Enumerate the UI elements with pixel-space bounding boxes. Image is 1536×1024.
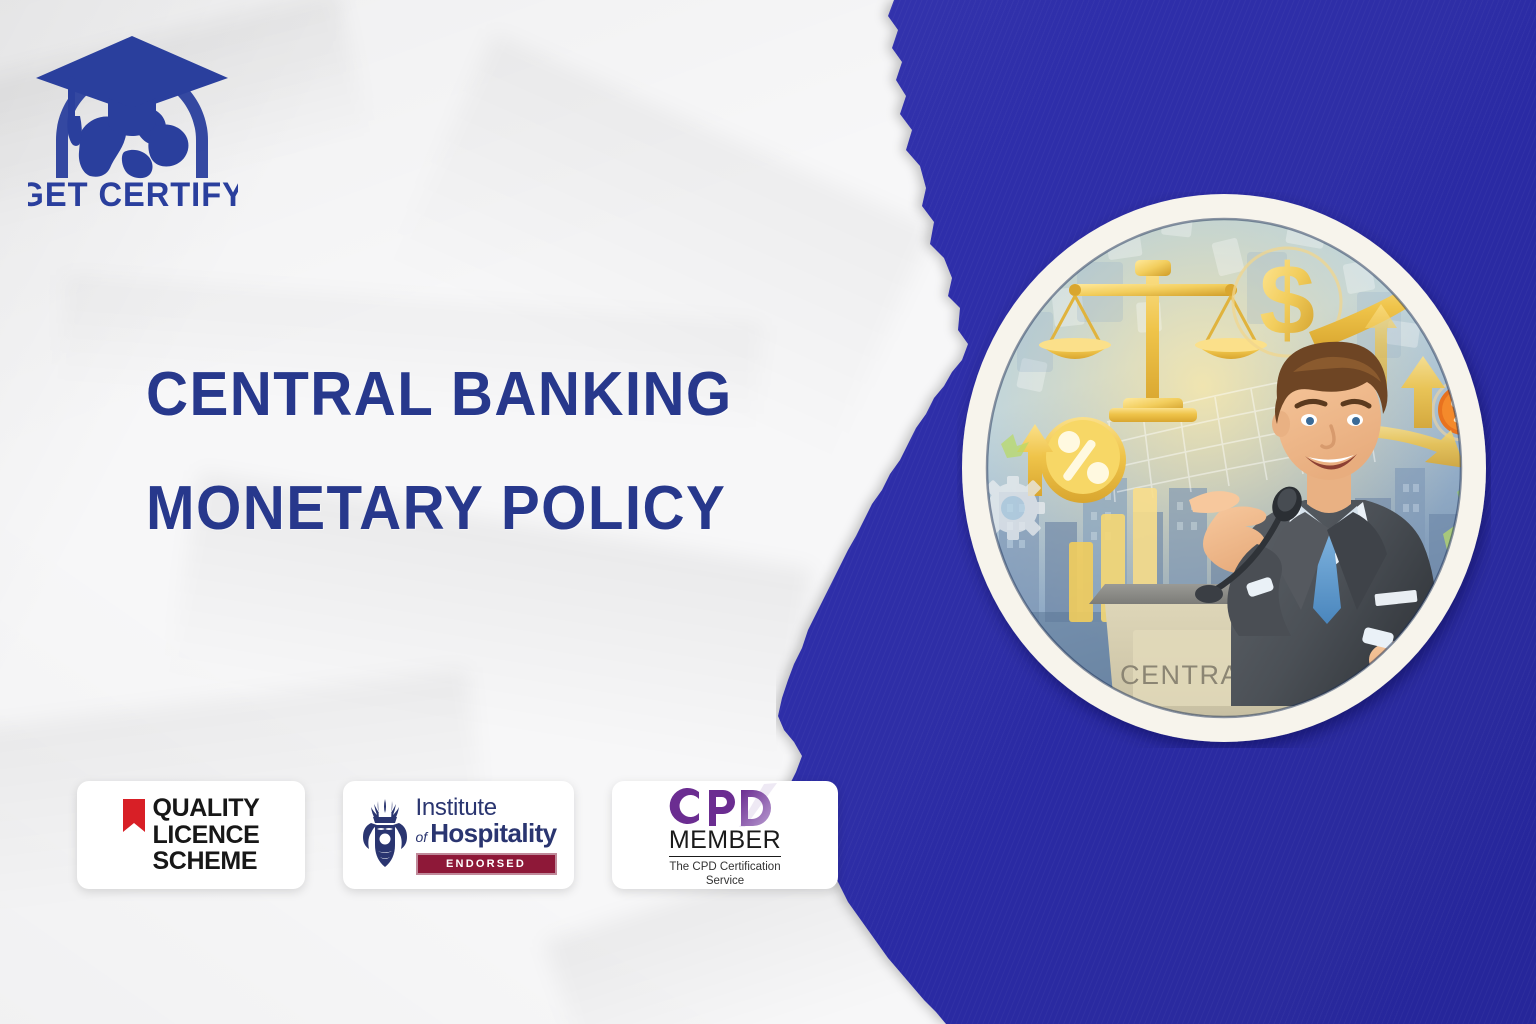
qls-line-2: LICENCE [153,822,260,849]
ioh-endorsed-banner: ENDORSED [416,853,557,875]
cpd-logo-icon [665,782,785,830]
title-line-2: MONETARY POLICY [146,478,804,540]
badge-cpd-member[interactable]: MEMBER The CPD Certification Service [612,781,838,889]
brand-logo[interactable]: GET CERTIFY [28,26,238,216]
ioh-line-2: Hospitality [430,820,556,846]
hero-illustration: $ [957,192,1491,748]
cpd-sub-line-1: The CPD Certification [665,860,785,874]
svg-text:$: $ [1259,244,1315,356]
accreditation-badges: QUALITY LICENCE SCHEME [77,781,838,889]
qls-line-1: QUALITY [153,795,260,822]
illustration-content: $ [957,192,1491,748]
badge-quality-licence-scheme[interactable]: QUALITY LICENCE SCHEME [77,781,305,889]
poster-canvas: GET CERTIFY CENTRAL BANKING MONETARY POL… [0,0,1536,1024]
heraldic-crest-icon [361,799,409,871]
red-bookmark-ribbon-icon [123,799,145,832]
percent-coin-icon [1040,417,1126,503]
ioh-of-word: of [416,829,428,845]
logo-wordmark: GET CERTIFY [28,176,238,214]
page-title: CENTRAL BANKING MONETARY POLICY [146,364,846,540]
ioh-line-1: Institute [416,796,557,820]
title-line-1: CENTRAL BANKING [146,364,804,426]
cpd-member-label: MEMBER [669,828,781,857]
badge-institute-of-hospitality[interactable]: Institute of Hospitality ENDORSED [343,781,574,889]
graduation-cap-globe-icon [36,36,228,178]
qls-line-3: SCHEME [153,848,260,875]
cpd-sub-line-2: Service [665,874,785,888]
